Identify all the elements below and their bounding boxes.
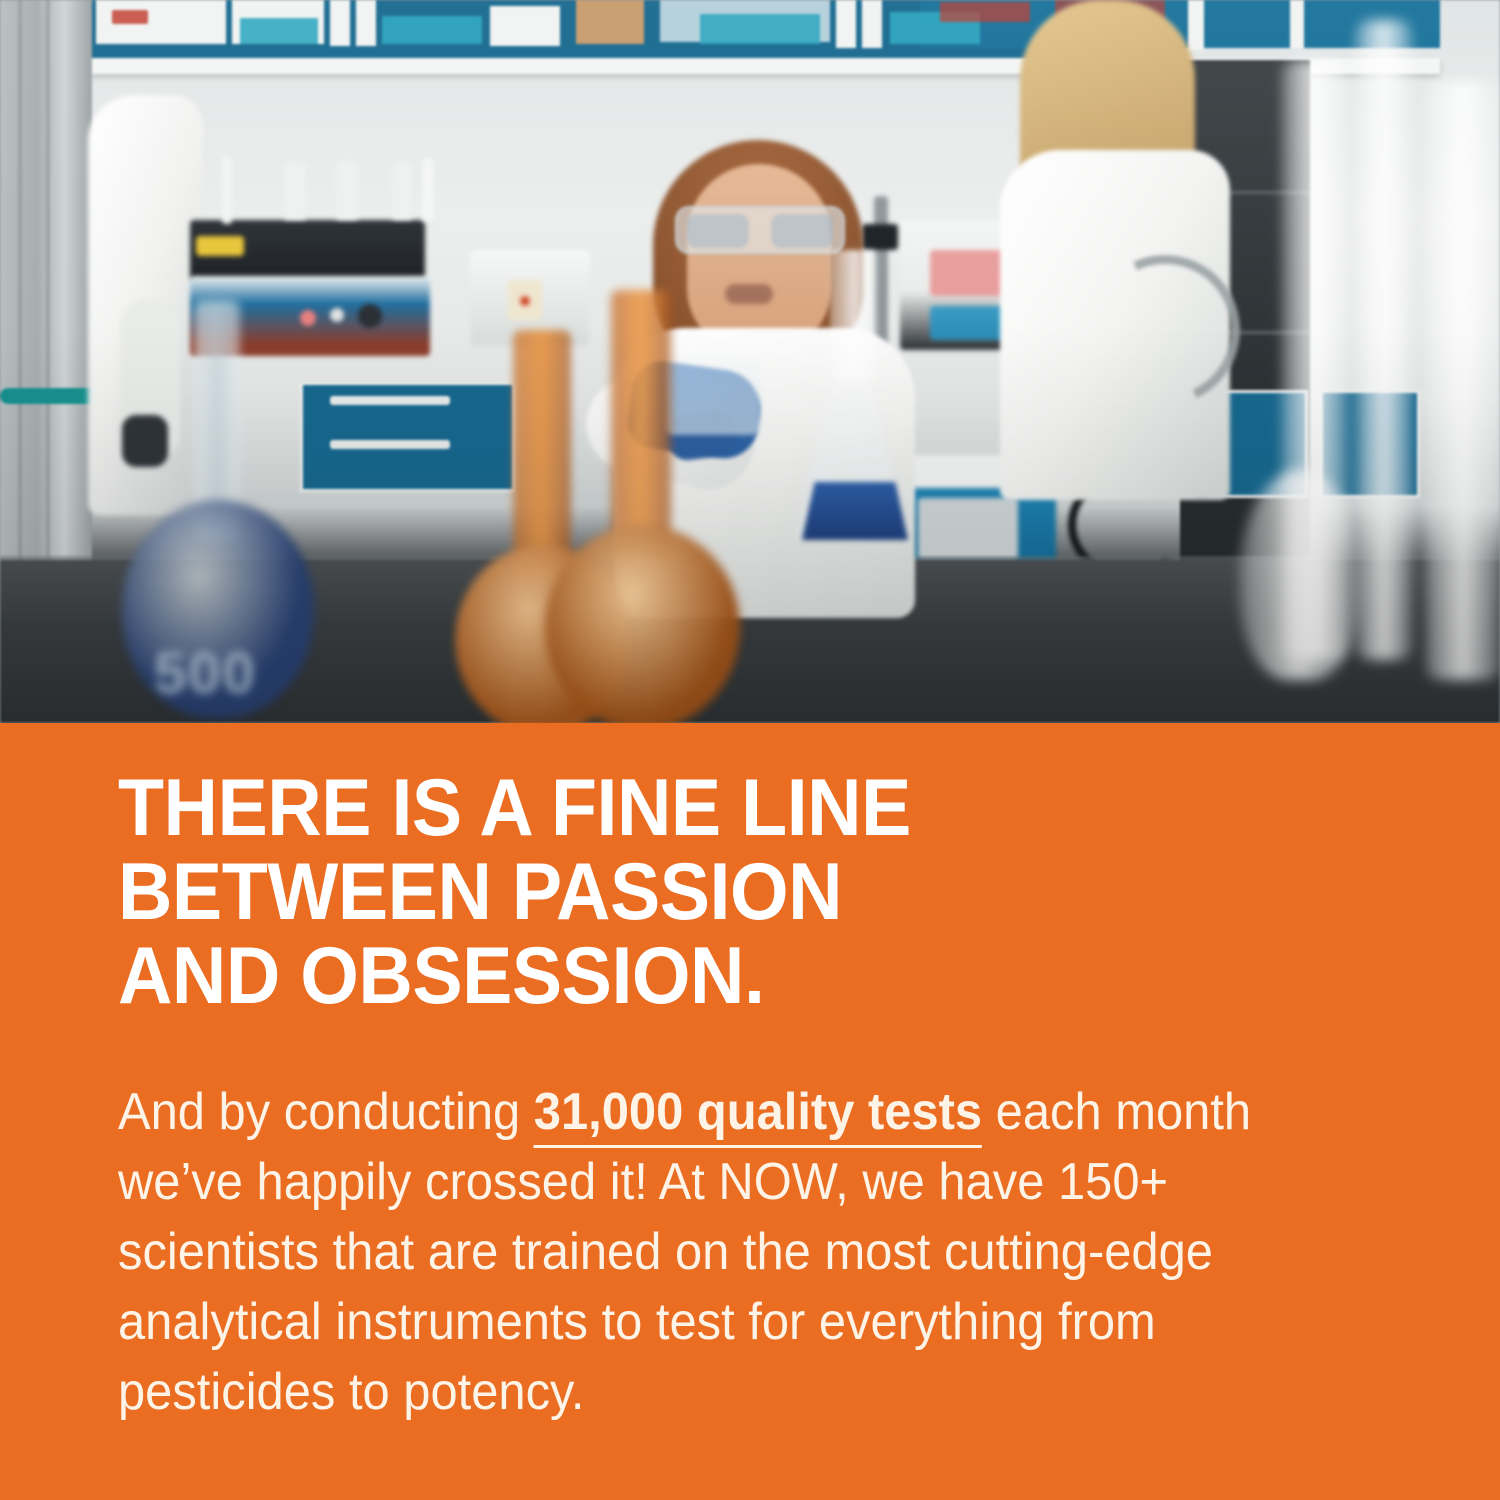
body-paragraph: And by conducting 31,000 quality tests e… [118,1077,1331,1427]
safety-goggles [675,206,845,254]
drawer-handle [330,396,450,405]
lab-photo: 500 [0,0,1500,723]
orange-content-panel: THERE IS A FINE LINE BETWEEN PASSION AND… [0,723,1500,1500]
flask-bulb [545,525,740,723]
flask-liquid-blue [802,482,908,540]
lab-photo-scene: 500 [0,0,1500,723]
cabinet-divider [330,0,350,46]
headline: THERE IS A FINE LINE BETWEEN PASSION AND… [118,766,1327,1018]
headline-line-1: THERE IS A FINE LINE [118,766,1327,850]
goggle-lens [771,214,833,248]
test-tube [284,162,306,220]
cabinet-box [576,0,644,44]
cabinet-divider [356,0,376,46]
instrument-knob [330,308,344,322]
volumetric-flask-amber [545,290,740,723]
headline-line-3: AND OBSESSION. [118,934,1327,1018]
cabinet-divider [1290,0,1304,48]
body-emphasis-quality-tests: 31,000 quality tests [534,1083,982,1148]
advertisement-card: 500 THERE IS A FINE LINE BETWEEN PASSION… [0,0,1500,1500]
drawer-handle [330,440,450,449]
test-tube [222,156,232,224]
scientist-right [1000,0,1260,500]
test-tube [392,162,412,220]
foreground-glassware [1356,20,1412,660]
flask-volume-label: 500 [154,640,257,707]
cabinet-teal-content [382,16,482,44]
cabinet-divider [862,0,882,48]
headline-line-2: BETWEEN PASSION [118,850,1327,934]
cabinet-teal-content [700,14,820,44]
foreground-flask-bulb [1240,470,1360,680]
body-text-part1: And by conducting [118,1083,534,1141]
volumetric-flask-blue: 500 [120,300,320,720]
instrument-indicator [520,296,530,306]
cabinet-divider [836,0,856,48]
test-tube [422,158,434,222]
erlenmeyer-flask [790,250,920,540]
goggle-lens [687,214,749,248]
flask-neck [611,290,671,560]
cabinet-shelf-item [505,22,549,34]
instrument-knob [358,304,382,328]
cabinet-teal-content [240,18,318,44]
test-tube [336,160,358,220]
cabinet-red-box [112,10,148,24]
foreground-glassware [1426,80,1500,680]
instrument-yellow-label [196,236,244,256]
